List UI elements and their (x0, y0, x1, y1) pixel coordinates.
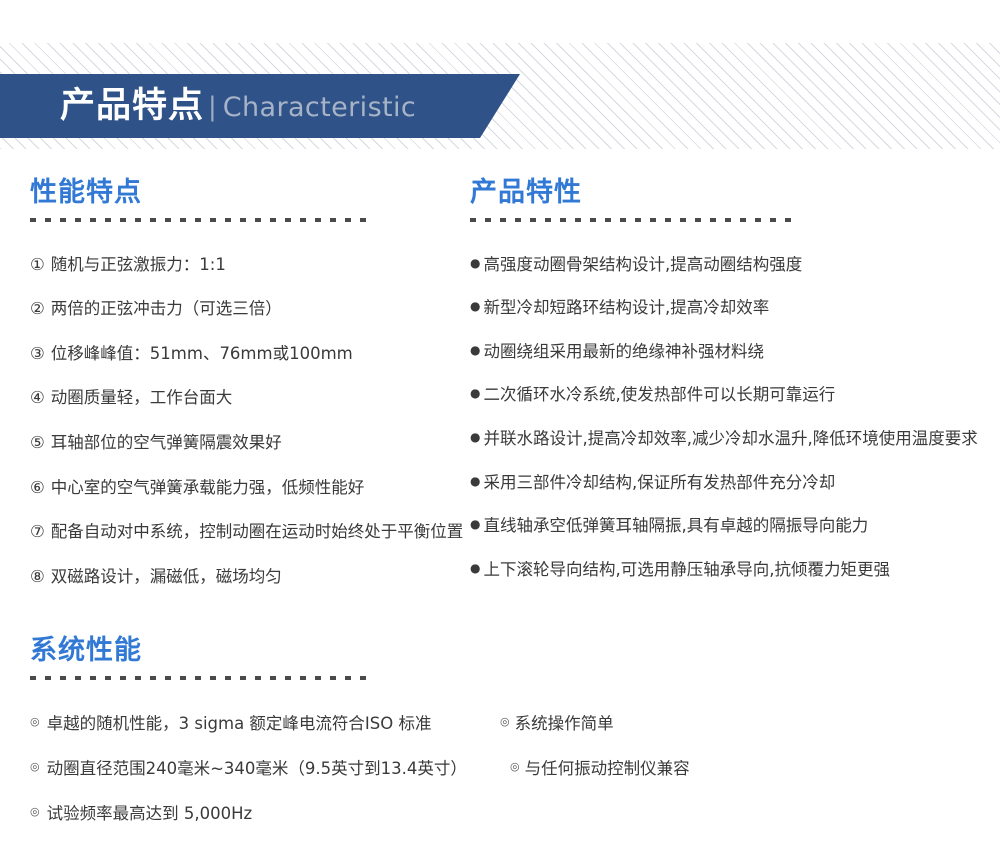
list-text: 位移峰峰值：51mm、76mm或100mm (51, 341, 470, 367)
bullet-icon: ● (470, 470, 480, 493)
feature-columns: 性能特点 ① 随机与正弦激振力：1:1 ② 两倍的正弦冲击力（可选三倍） ③ 位… (0, 178, 1000, 608)
list-text: 直线轴承空低弹簧耳轴隔振,具有卓越的隔振导向能力 (483, 513, 1000, 539)
list-text: 动圈绕组采用最新的绝缘神补强材料绕 (483, 339, 1000, 365)
list-row: ◎ 卓越的随机性能，3 sigma 额定峰电流符合ISO 标准 ◎ 系统操作简单 (30, 712, 990, 735)
bullet-icon: ● (470, 382, 480, 405)
list-text: 两倍的正弦冲击力（可选三倍） (51, 296, 470, 322)
circle-marker-icon: ◎ (30, 757, 40, 778)
list-marker: ③ (30, 341, 45, 367)
heading-dashed-rule (30, 218, 370, 222)
list-text: 与任何振动控制仪兼容 (525, 757, 690, 780)
system-performance-heading: 系统性能 (30, 636, 990, 666)
list-text: 并联水路设计,提高冷却效率,减少冷却水温升,降低环境使用温度要求 (483, 426, 1000, 452)
list-text: 新型冷却短路环结构设计,提高冷却效率 (483, 295, 1000, 321)
list-item: ◎ 卓越的随机性能，3 sigma 额定峰电流符合ISO 标准 (30, 712, 500, 735)
list-text: 双磁路设计，漏磁低，磁场均匀 (51, 564, 470, 590)
list-marker: ① (30, 252, 45, 278)
list-item: ● 直线轴承空低弹簧耳轴隔振,具有卓越的隔振导向能力 (470, 513, 1000, 539)
bullet-icon: ● (470, 295, 480, 318)
list-text: 二次循环水冷系统,使发热部件可以长期可靠运行 (483, 382, 1000, 408)
performance-list: ① 随机与正弦激振力：1:1 ② 两倍的正弦冲击力（可选三倍） ③ 位移峰峰值：… (30, 252, 470, 590)
heading-dashed-rule (30, 676, 370, 680)
list-item: ◎ 与任何振动控制仪兼容 (510, 757, 690, 780)
product-features-list: ● 高强度动圈骨架结构设计,提高动圈结构强度 ● 新型冷却短路环结构设计,提高冷… (470, 252, 1000, 583)
list-item: ◎ 动圈直径范围240毫米~340毫米（9.5英寸到13.4英寸） (30, 757, 510, 780)
system-performance-heading-block: 系统性能 (30, 636, 990, 680)
list-text: 中心室的空气弹簧承载能力强，低频性能好 (51, 475, 470, 501)
list-text: 系统操作简单 (515, 712, 614, 735)
bullet-icon: ● (470, 426, 480, 449)
list-item: ◎ 系统操作简单 (500, 712, 614, 735)
list-marker: ⑥ (30, 475, 45, 501)
performance-column: 性能特点 ① 随机与正弦激振力：1:1 ② 两倍的正弦冲击力（可选三倍） ③ 位… (0, 178, 470, 608)
bullet-icon: ● (470, 339, 480, 362)
bullet-icon: ● (470, 557, 480, 580)
circle-marker-icon: ◎ (30, 712, 40, 733)
product-features-heading: 产品特性 (470, 178, 1000, 208)
list-text: 高强度动圈骨架结构设计,提高动圈结构强度 (483, 252, 1000, 278)
list-row: ◎ 动圈直径范围240毫米~340毫米（9.5英寸到13.4英寸） ◎ 与任何振… (30, 757, 990, 780)
list-item: ◎ 试验频率最高达到 5,000Hz (30, 802, 500, 825)
circle-marker-icon: ◎ (30, 802, 40, 823)
list-item: ③ 位移峰峰值：51mm、76mm或100mm (30, 341, 470, 367)
list-text: 耳轴部位的空气弹簧隔震效果好 (51, 430, 470, 456)
list-item: ① 随机与正弦激振力：1:1 (30, 252, 470, 278)
product-features-column: 产品特性 ● 高强度动圈骨架结构设计,提高动圈结构强度 ● 新型冷却短路环结构设… (470, 178, 1000, 608)
list-marker: ⑤ (30, 430, 45, 456)
circle-marker-icon: ◎ (500, 712, 510, 733)
list-item: ⑧ 双磁路设计，漏磁低，磁场均匀 (30, 564, 470, 590)
list-text: 上下滚轮导向结构,可选用静压轴承导向,抗倾覆力矩更强 (483, 557, 1000, 583)
list-item: ⑤ 耳轴部位的空气弹簧隔震效果好 (30, 430, 470, 456)
list-marker: ⑧ (30, 564, 45, 590)
list-item: ● 上下滚轮导向结构,可选用静压轴承导向,抗倾覆力矩更强 (470, 557, 1000, 583)
list-marker: ④ (30, 385, 45, 411)
bullet-icon: ● (470, 252, 480, 275)
product-features-heading-block: 产品特性 (470, 178, 1000, 222)
banner-title-cn: 产品特点 (60, 89, 204, 124)
banner-title-en: Characteristic (223, 94, 416, 121)
list-text: 试验频率最高达到 5,000Hz (47, 802, 500, 825)
list-item: ● 高强度动圈骨架结构设计,提高动圈结构强度 (470, 252, 1000, 278)
list-text: 采用三部件冷却结构,保证所有发热部件充分冷却 (483, 470, 1000, 496)
list-row: ◎ 试验频率最高达到 5,000Hz (30, 802, 990, 825)
page-header: 产品特点 | Characteristic (0, 0, 1000, 160)
list-item: ② 两倍的正弦冲击力（可选三倍） (30, 296, 470, 322)
list-text: 动圈直径范围240毫米~340毫米（9.5英寸到13.4英寸） (47, 757, 510, 780)
circle-marker-icon: ◎ (510, 757, 520, 778)
list-item: ● 二次循环水冷系统,使发热部件可以长期可靠运行 (470, 382, 1000, 408)
list-item: ⑦ 配备自动对中系统，控制动圈在运动时始终处于平衡位置 (30, 519, 470, 545)
performance-heading: 性能特点 (30, 178, 470, 208)
list-item: ● 动圈绕组采用最新的绝缘神补强材料绕 (470, 339, 1000, 365)
list-item: ⑥ 中心室的空气弹簧承载能力强，低频性能好 (30, 475, 470, 501)
list-marker: ⑦ (30, 519, 45, 545)
system-performance-section: 系统性能 ◎ 卓越的随机性能，3 sigma 额定峰电流符合ISO 标准 ◎ 系… (30, 636, 990, 847)
section-banner: 产品特点 | Characteristic (0, 74, 520, 138)
list-text: 动圈质量轻，工作台面大 (51, 385, 470, 411)
bullet-icon: ● (470, 513, 480, 536)
list-item: ● 采用三部件冷却结构,保证所有发热部件充分冷却 (470, 470, 1000, 496)
performance-heading-block: 性能特点 (30, 178, 470, 222)
heading-dashed-rule (470, 218, 800, 222)
system-performance-list: ◎ 卓越的随机性能，3 sigma 额定峰电流符合ISO 标准 ◎ 系统操作简单… (30, 712, 990, 825)
list-marker: ② (30, 296, 45, 322)
list-item: ● 并联水路设计,提高冷却效率,减少冷却水温升,降低环境使用温度要求 (470, 426, 1000, 452)
list-item: ④ 动圈质量轻，工作台面大 (30, 385, 470, 411)
list-text: 随机与正弦激振力：1:1 (51, 252, 470, 278)
list-item: ● 新型冷却短路环结构设计,提高冷却效率 (470, 295, 1000, 321)
list-text: 配备自动对中系统，控制动圈在运动时始终处于平衡位置 (51, 519, 470, 545)
list-text: 卓越的随机性能，3 sigma 额定峰电流符合ISO 标准 (47, 712, 500, 735)
banner-divider: | (208, 94, 217, 120)
